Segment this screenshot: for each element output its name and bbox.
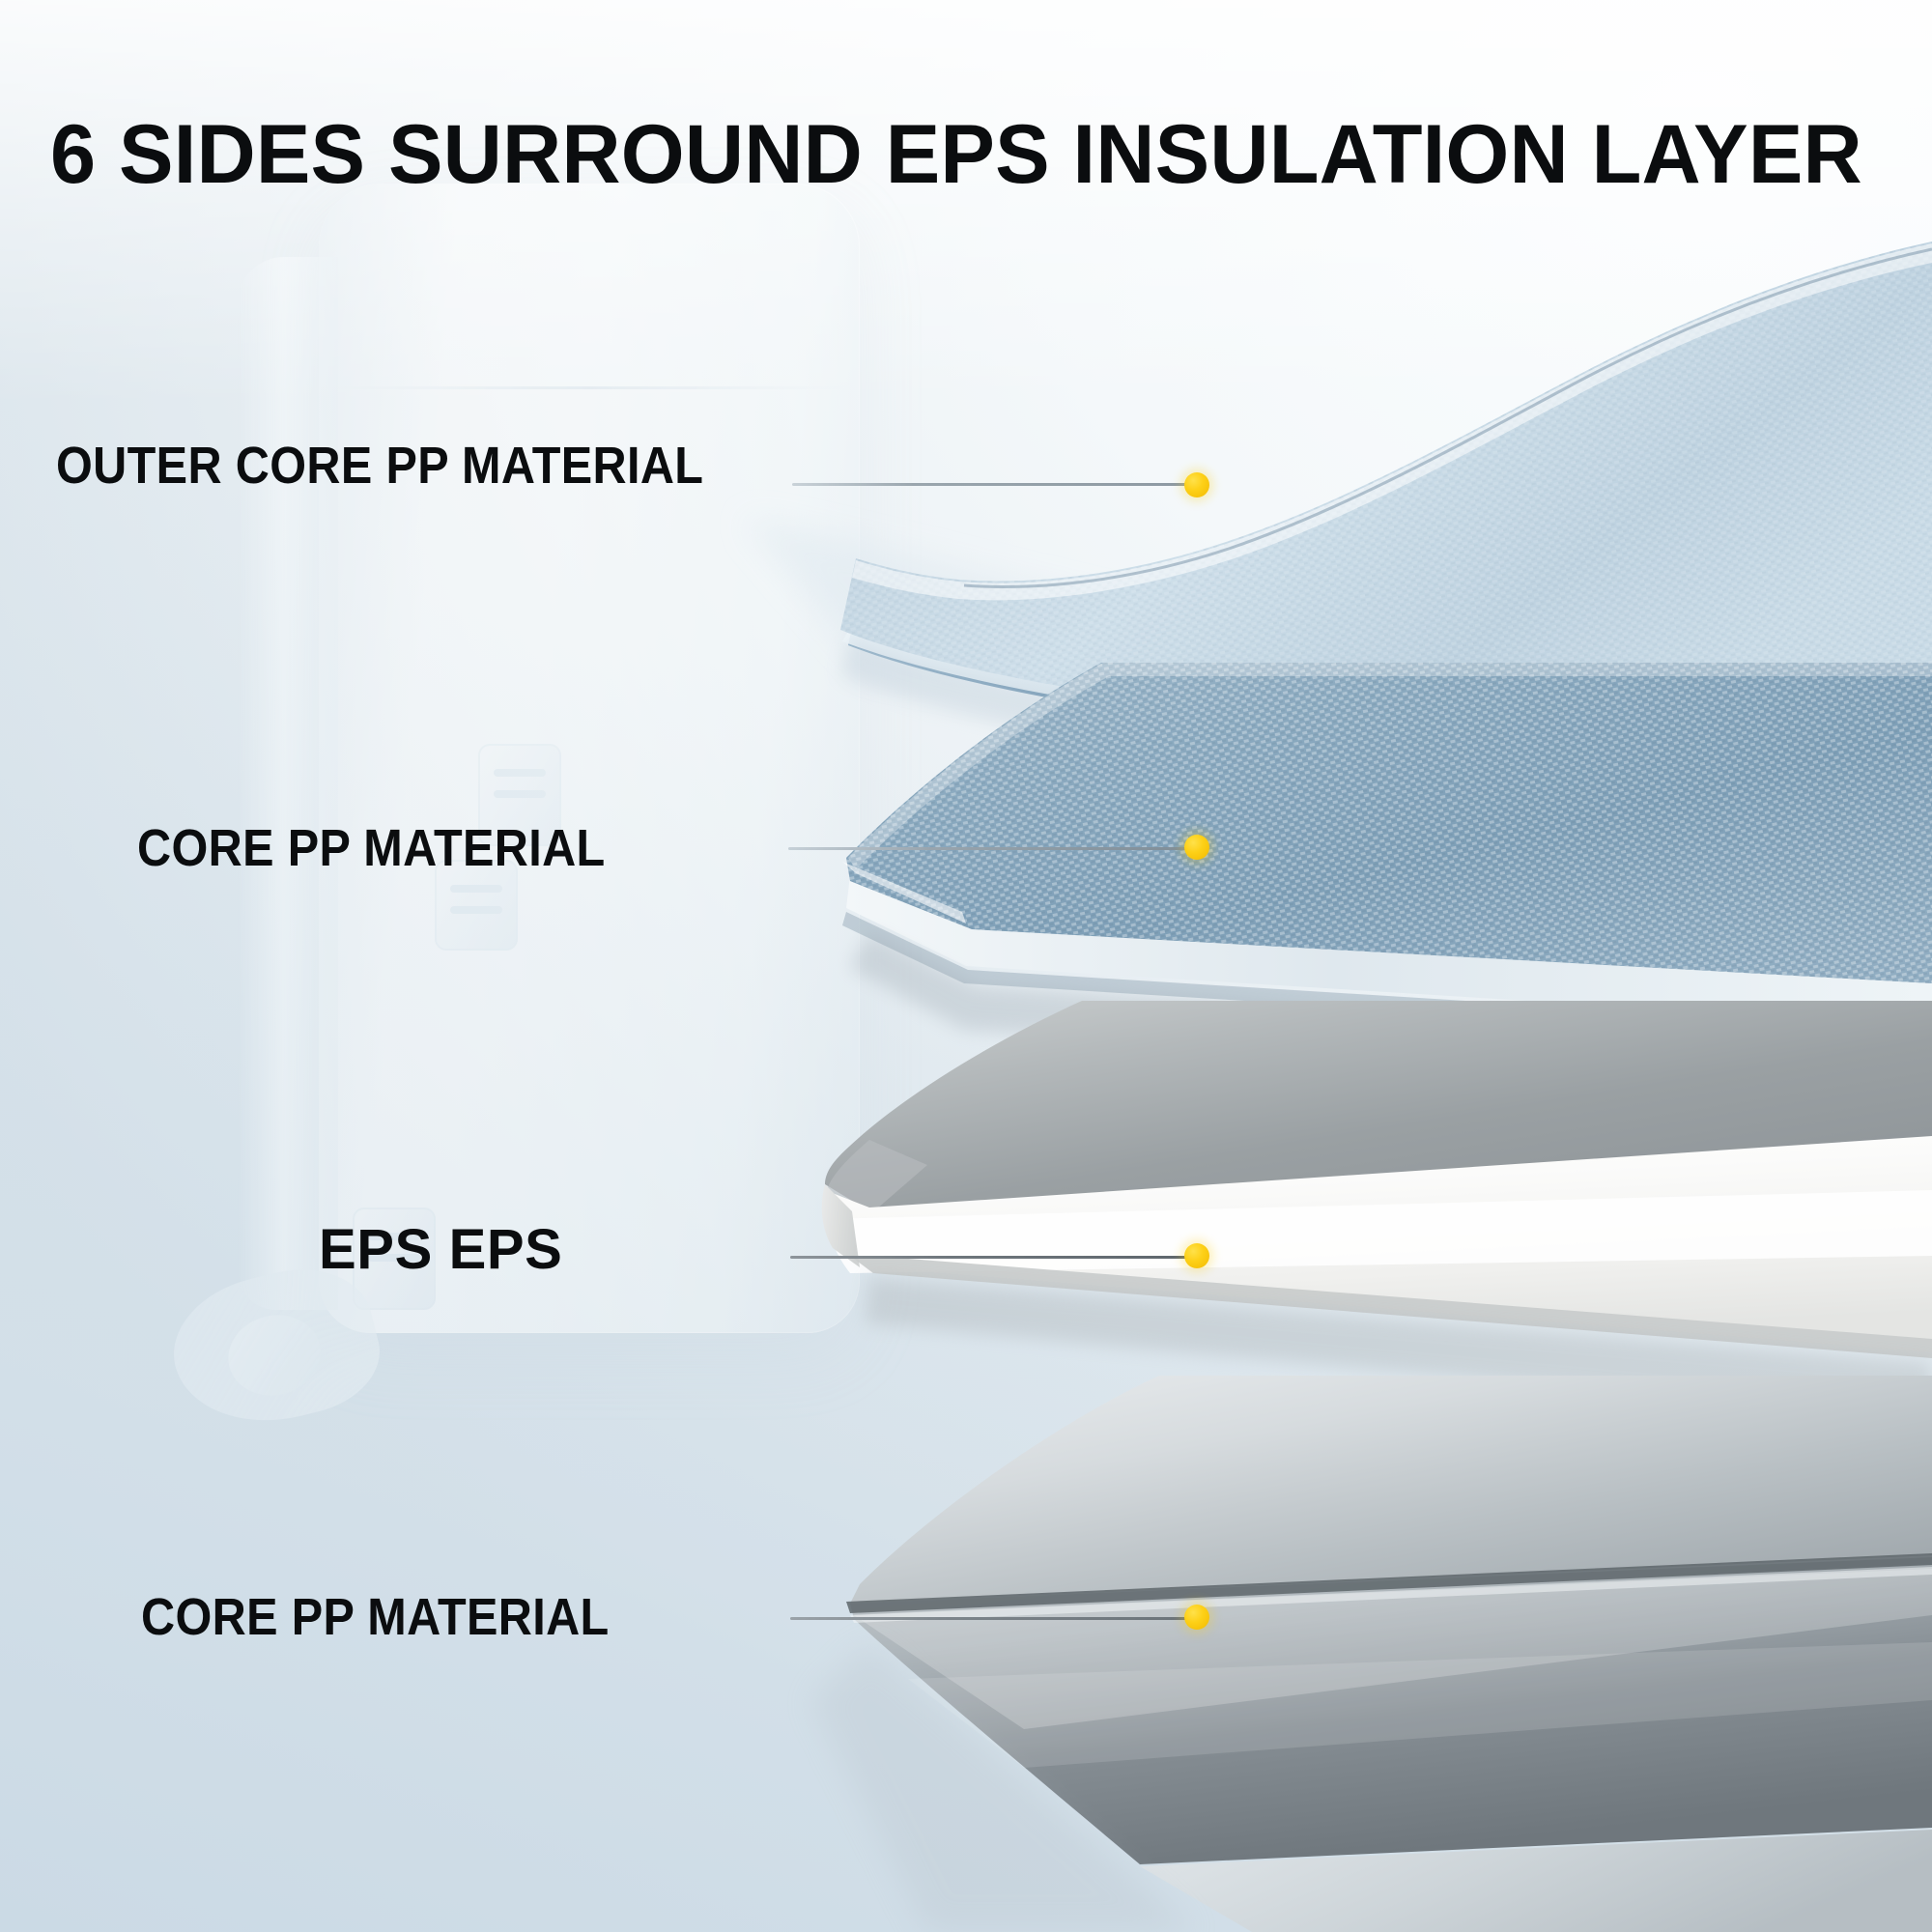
layer-label-core-pp-lower: CORE PP MATERIAL <box>141 1591 610 1643</box>
layer-shape-core-pp-lower <box>811 1376 1932 1932</box>
callout-dot-core-pp-lower <box>1184 1605 1209 1630</box>
leader-line-core-pp-upper <box>788 847 1198 850</box>
layer-label-outer-core-pp: OUTER CORE PP MATERIAL <box>56 440 703 492</box>
leader-line-core-pp-lower <box>790 1617 1198 1620</box>
page-title: 6 SIDES SURROUND EPS INSULATION LAYER <box>50 113 1862 196</box>
infographic-canvas: 6 SIDES SURROUND EPS INSULATION LAYER OU… <box>0 0 1932 1932</box>
layer-shape-eps-foam <box>822 1001 1932 1420</box>
leader-line-eps-foam <box>790 1256 1198 1259</box>
callout-dot-outer-core-pp <box>1184 472 1209 497</box>
callout-dot-core-pp-upper <box>1184 835 1209 860</box>
layer-label-core-pp-upper: CORE PP MATERIAL <box>137 822 606 874</box>
leader-line-outer-core-pp <box>792 483 1198 486</box>
layer-label-eps-foam: EPS EPS <box>319 1222 562 1278</box>
callout-dot-eps-foam <box>1184 1243 1209 1268</box>
